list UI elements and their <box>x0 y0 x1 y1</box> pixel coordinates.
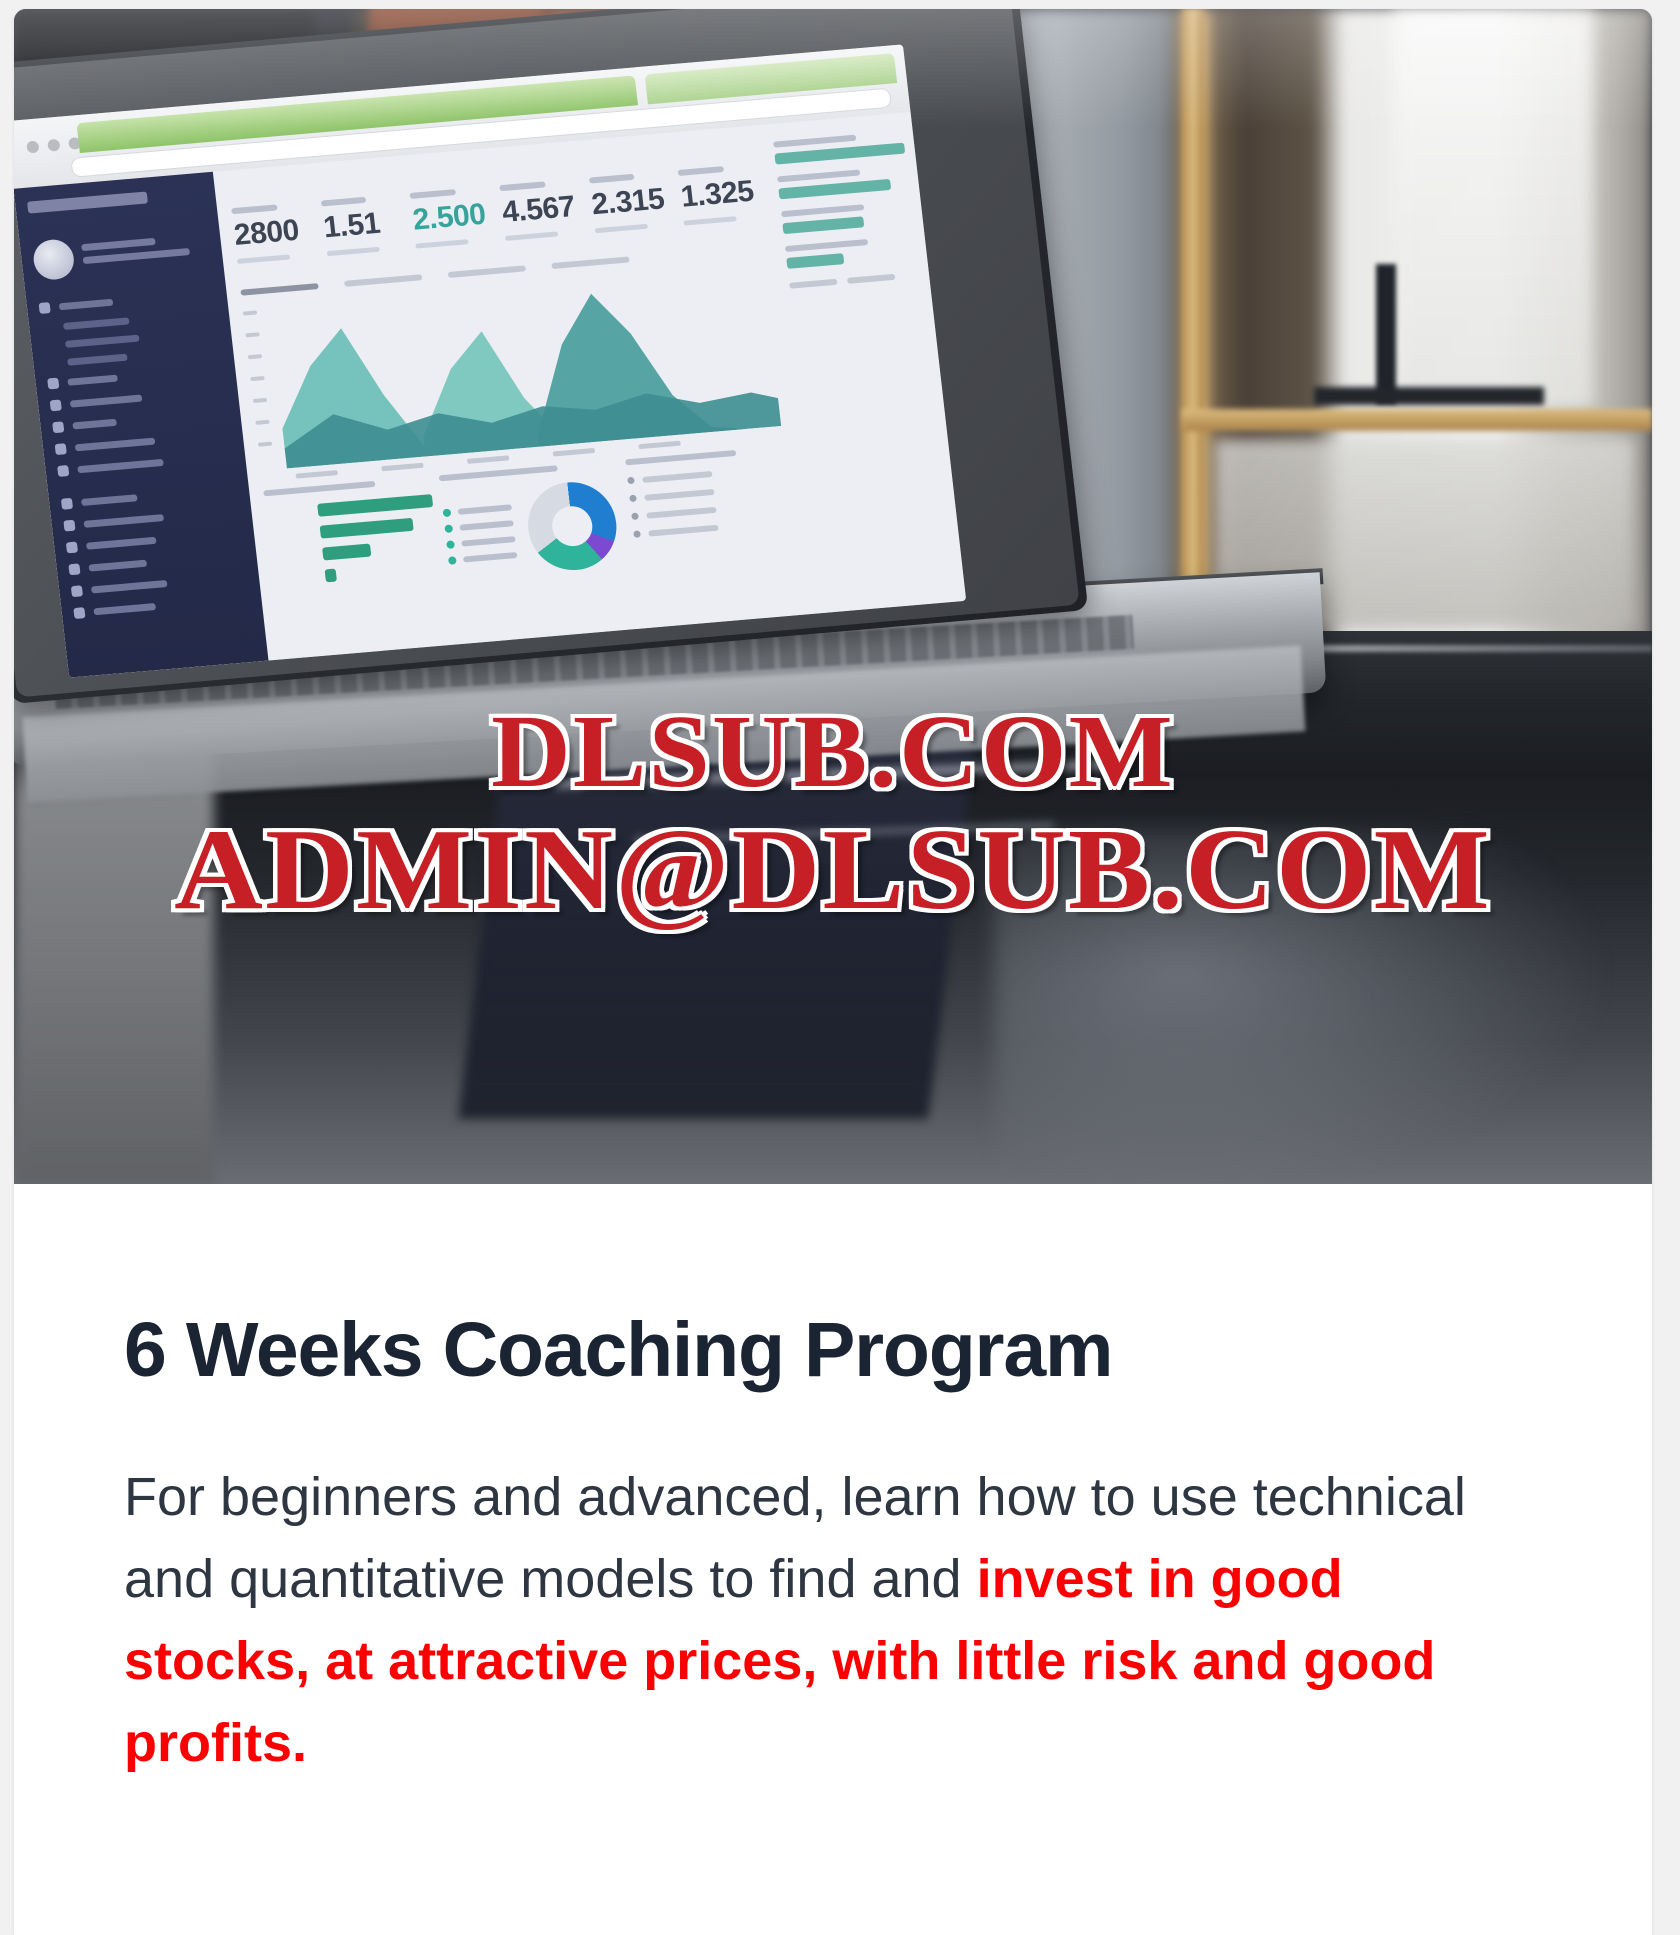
dashboard-user-block[interactable] <box>32 226 212 281</box>
panel-title <box>625 450 737 466</box>
gear-icon <box>73 607 85 619</box>
kpi-card: 1.325 <box>678 164 758 226</box>
analytics-icon <box>50 399 62 411</box>
kpi-card: 2.315 <box>589 171 669 233</box>
sidebar-item-shop[interactable] <box>39 288 216 314</box>
sidebar-item-analytics[interactable] <box>50 385 227 411</box>
kpi-value: 1.325 <box>679 177 756 213</box>
kpi-value: 2.315 <box>590 184 667 220</box>
dashboard-logo <box>27 191 148 213</box>
kpi-label <box>410 189 456 199</box>
kpi-value: 2.500 <box>411 200 488 236</box>
page-description: For beginners and advanced, learn how to… <box>124 1456 1542 1784</box>
rail-footer <box>789 272 919 289</box>
sidebar-item-components[interactable] <box>63 506 240 532</box>
sidebar-item-tables[interactable] <box>68 549 245 575</box>
page-title: 6 Weeks Coaching Program <box>124 1310 1542 1392</box>
dashboard-panels <box>263 446 795 596</box>
sidebar-item-pages[interactable] <box>57 451 234 477</box>
kpi-caption <box>237 254 290 263</box>
reports-icon <box>47 378 59 390</box>
pages-icon <box>57 465 69 477</box>
rail-label <box>781 204 865 217</box>
content-card: 2800 1.51 2.500 <box>14 9 1652 1935</box>
forms-icon <box>66 542 78 554</box>
widgets-icon <box>61 498 73 510</box>
donut-panel <box>438 461 620 581</box>
kpi-card: 2.500 <box>410 187 490 249</box>
kpi-value: 2800 <box>233 215 310 251</box>
rail-label <box>777 169 861 182</box>
kpi-value: 4.567 <box>501 192 578 228</box>
charts-icon <box>71 585 83 597</box>
wall-light-patch <box>1394 9 1594 409</box>
sidebar-item-reports[interactable] <box>47 364 224 390</box>
laptop: 2800 1.51 2.500 <box>14 9 1174 789</box>
sidebar-item-sales[interactable] <box>52 407 229 433</box>
shelf-book-row <box>1314 387 1544 405</box>
sidebar-item-apps[interactable] <box>55 429 232 455</box>
kpi-label <box>231 204 277 214</box>
donut-legend <box>441 495 518 572</box>
kpi-caption <box>416 239 469 248</box>
content-body: 6 Weeks Coaching Program For beginners a… <box>14 1184 1652 1784</box>
sidebar-nav-primary <box>39 288 234 477</box>
sidebar-item-forms[interactable] <box>66 527 243 553</box>
panel-title <box>438 465 558 481</box>
components-icon <box>63 520 75 532</box>
window-controls[interactable] <box>26 137 81 154</box>
rail-label <box>785 239 869 252</box>
kpi-card: 1.51 <box>320 194 400 256</box>
hero-image: 2800 1.51 2.500 <box>14 9 1652 1184</box>
rail-bar <box>786 253 844 269</box>
sidebar-item-products[interactable] <box>45 346 221 368</box>
kpi-caption <box>505 231 558 240</box>
kpi-card: 4.567 <box>499 179 579 241</box>
funnel-panel <box>263 477 434 596</box>
apps-icon <box>55 443 67 455</box>
list-panel <box>625 446 796 565</box>
kpi-label <box>320 197 366 207</box>
dashboard-main: 2800 1.51 2.500 <box>213 125 817 661</box>
funnel-chart <box>265 495 433 587</box>
panel-title <box>263 481 375 497</box>
desk-glow <box>994 829 1614 1184</box>
shelf-frame-vertical <box>1182 9 1204 629</box>
user-meta <box>81 233 211 270</box>
tab-traffic[interactable] <box>344 274 422 287</box>
page-root: 2800 1.51 2.500 <box>0 0 1680 1935</box>
kpi-caption <box>594 224 647 233</box>
tab-overview[interactable] <box>240 283 318 296</box>
sidebar-item-charts[interactable] <box>71 571 248 597</box>
laptop-screen: 2800 1.51 2.500 <box>14 44 966 677</box>
sidebar-item-settings[interactable] <box>73 593 250 619</box>
sidebar-item-widgets[interactable] <box>61 484 238 510</box>
rail-bar <box>778 179 891 199</box>
donut-chart <box>523 479 621 574</box>
kpi-label <box>589 174 635 184</box>
sales-icon <box>52 421 64 433</box>
sidebar-item-customers[interactable] <box>43 328 219 350</box>
kpi-value: 1.51 <box>322 207 399 243</box>
donut-wrap <box>440 479 620 581</box>
shelf-book <box>1376 264 1396 404</box>
avatar <box>32 238 76 281</box>
sidebar-nav-secondary <box>61 484 250 619</box>
kpi-card: 2800 <box>231 202 311 264</box>
tables-icon <box>68 563 80 575</box>
area-chart <box>243 267 781 471</box>
sidebar-item-orders[interactable] <box>41 310 217 332</box>
analytics-dashboard: 2800 1.51 2.500 <box>14 112 966 678</box>
tab-revenue[interactable] <box>551 256 629 269</box>
kpi-label <box>678 166 724 176</box>
kpi-caption <box>326 247 379 256</box>
rail-bar <box>782 216 864 234</box>
shelf-frame-horizontal <box>1182 409 1652 431</box>
kpi-row: 2800 1.51 2.500 <box>231 164 758 264</box>
kpi-label <box>499 181 545 191</box>
rail-label <box>773 135 857 148</box>
tab-conversions[interactable] <box>448 265 526 278</box>
shop-icon <box>39 302 51 314</box>
kpi-caption <box>684 216 737 225</box>
